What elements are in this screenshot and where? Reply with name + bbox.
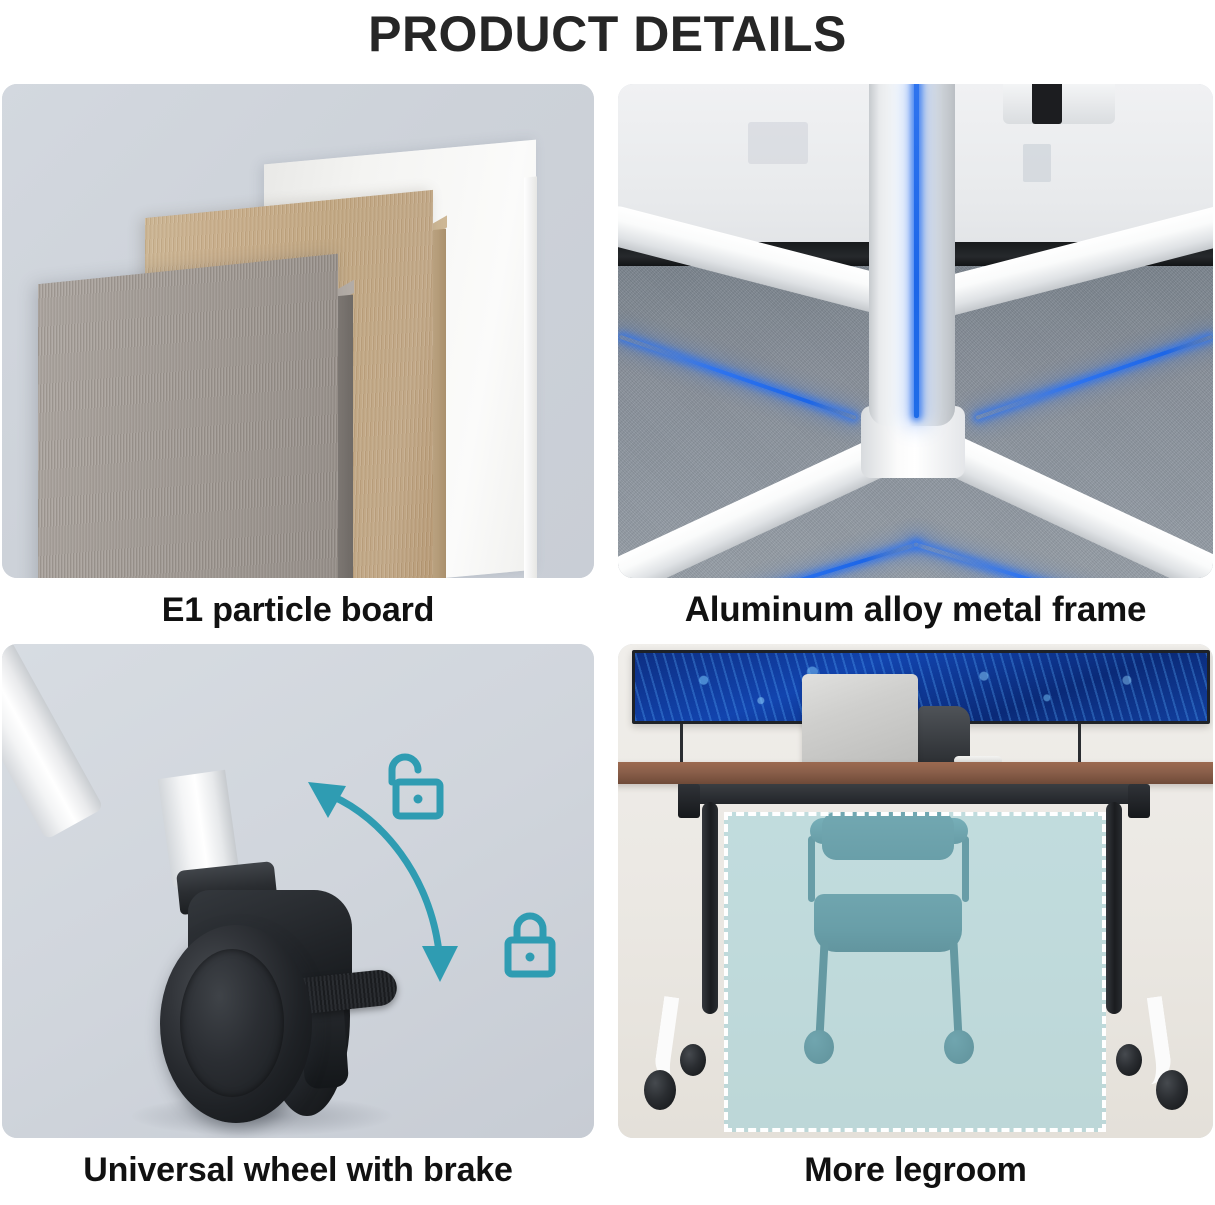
- product-details-infographic: PRODUCT DETAILS E1 particle board: [0, 0, 1215, 1205]
- table-clamp-grip: [1032, 84, 1062, 124]
- desk-caster-back-left: [680, 1044, 706, 1076]
- caster-wheel-front: [160, 925, 312, 1123]
- board-stack-icon: [2, 84, 594, 578]
- gray-board: [38, 254, 338, 578]
- panel-caption-universal-wheel: Universal wheel with brake: [2, 1138, 594, 1202]
- panel-caption-particle-board: E1 particle board: [2, 578, 594, 642]
- desk-bracket-left: [678, 784, 700, 818]
- panel-grid: E1 particle board: [0, 84, 1215, 1205]
- panel-particle-board: E1 particle board: [2, 84, 594, 644]
- desk-leg-post-left: [702, 802, 718, 1014]
- desk-apron: [678, 784, 1146, 804]
- wall-detail-right: [1023, 144, 1051, 182]
- panel-universal-wheel: Universal wheel with brake: [2, 644, 594, 1204]
- blue-glow-center-post: [914, 84, 919, 418]
- caster-wheel-hubcap: [180, 949, 284, 1097]
- desk-caster-back-right: [1116, 1044, 1142, 1076]
- metal-frame-icon: [618, 84, 1213, 578]
- legroom-highlight-area: [724, 812, 1106, 1132]
- screen-stand-left: [680, 724, 683, 762]
- desk-top-surface: [618, 762, 1213, 784]
- caster-wheel-icon: [2, 644, 594, 1138]
- screen-stand-right: [1078, 724, 1081, 762]
- wall-detail-left: [748, 122, 808, 164]
- locked-padlock-icon: [500, 908, 566, 982]
- panel-caption-aluminum-frame: Aluminum alloy metal frame: [618, 578, 1213, 642]
- frame-center-post: [869, 84, 955, 426]
- panel-more-legroom: More legroom: [618, 644, 1213, 1204]
- legroom-icon: [618, 644, 1213, 1138]
- panel-aluminum-frame: Aluminum alloy metal frame: [618, 84, 1213, 644]
- desk-leg-post-right: [1106, 802, 1122, 1014]
- white-board-edge: [524, 176, 537, 578]
- desk-bracket-right: [1128, 784, 1150, 818]
- desk-caster-front-right: [1156, 1070, 1188, 1110]
- page-title: PRODUCT DETAILS: [0, 0, 1215, 68]
- laptop: [802, 674, 918, 764]
- unlocked-padlock-icon: [380, 750, 446, 822]
- desk-caster-front-left: [644, 1070, 676, 1110]
- panel-caption-more-legroom: More legroom: [618, 1138, 1213, 1202]
